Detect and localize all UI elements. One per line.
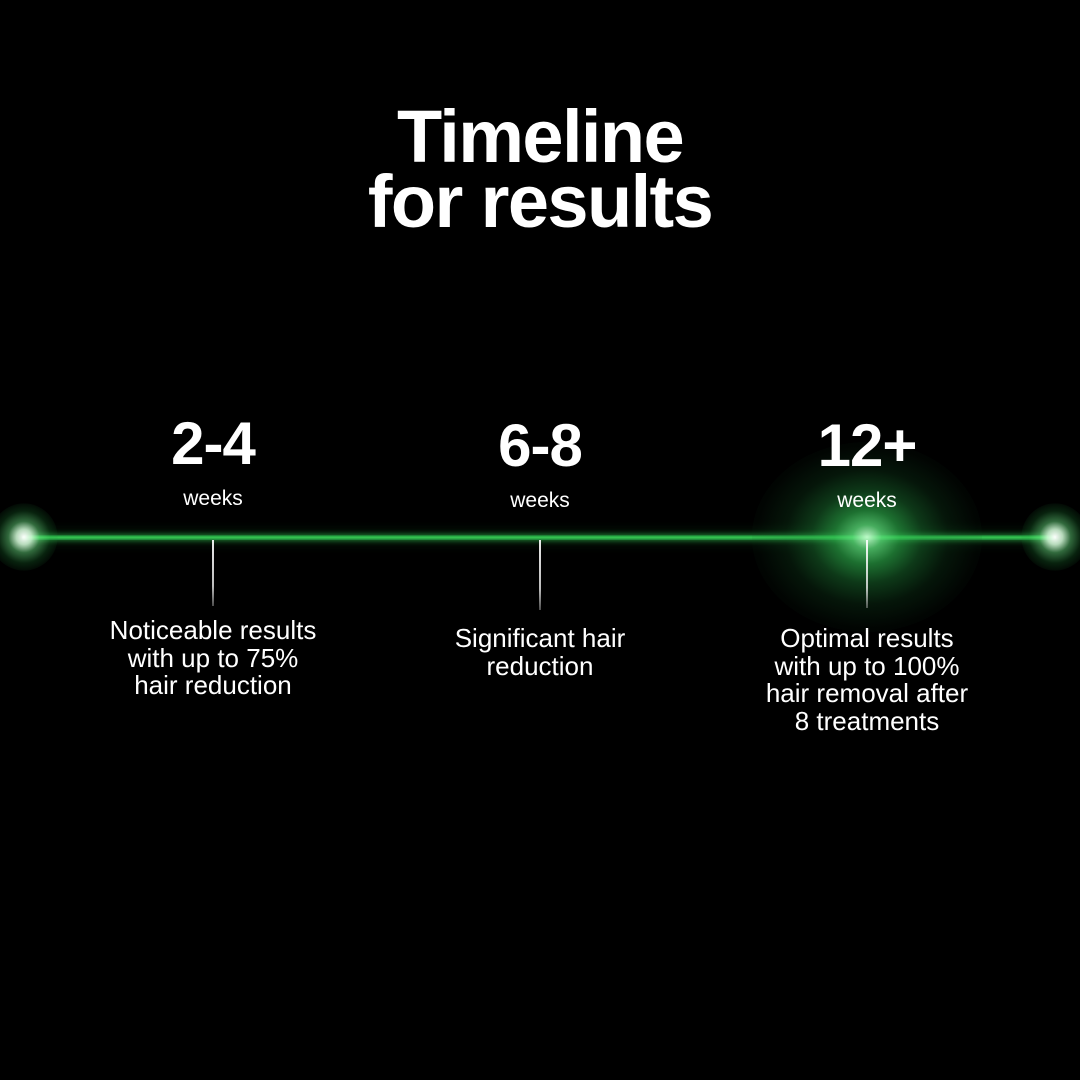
timeline-infographic: Timeline for results 2-4 weeks Noticeabl… <box>0 0 1080 1080</box>
milestone-description: Noticeable results with up to 75% hair r… <box>43 617 383 700</box>
milestone-description: Optimal results with up to 100% hair rem… <box>697 625 1037 735</box>
milestone-tick <box>539 540 541 610</box>
page-title-line-2: for results <box>0 169 1080 234</box>
milestone-unit: weeks <box>697 490 1037 511</box>
milestone-unit: weeks <box>43 488 383 509</box>
milestone-value: 2-4 <box>43 414 383 474</box>
milestone-description: Significant hair reduction <box>370 625 710 680</box>
milestone-unit: weeks <box>370 490 710 511</box>
milestone-tick <box>866 540 868 608</box>
page-title: Timeline for results <box>0 104 1080 234</box>
milestone-tick <box>212 540 214 606</box>
milestone-value: 6-8 <box>370 416 710 476</box>
milestone-value: 12+ <box>697 416 1037 476</box>
